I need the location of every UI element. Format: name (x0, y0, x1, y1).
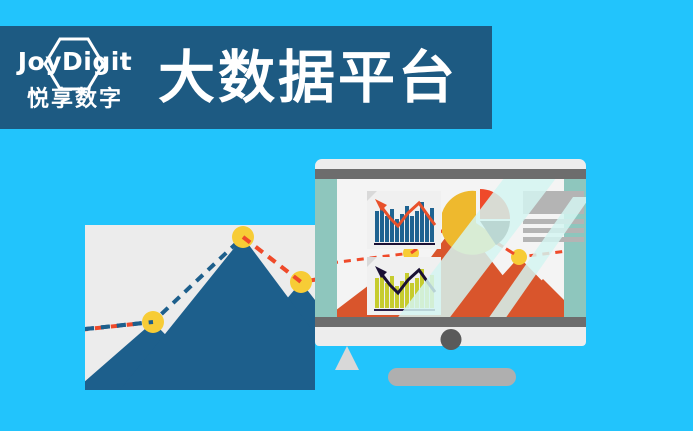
pie-chart (442, 187, 514, 259)
bar-chart-card-blue[interactable] (367, 191, 441, 249)
axis-line (374, 243, 435, 245)
poster-canvas: JoyDigit 悦享数字 大数据平台 (0, 0, 693, 431)
monitor-stand-neck (335, 346, 359, 370)
monitor-bezel-bottom (315, 317, 586, 327)
logo: JoyDigit 悦享数字 (14, 30, 136, 125)
monitor-bezel-top (315, 169, 586, 179)
power-button[interactable] (440, 329, 461, 350)
monitor (315, 159, 586, 346)
doc-line (523, 219, 584, 224)
doc-header-block (523, 191, 584, 214)
bar-chart-olive (367, 257, 441, 315)
doc-line (523, 228, 584, 233)
bar-chart-blue (367, 191, 441, 249)
document-placeholder (523, 191, 584, 239)
dashboard (337, 179, 564, 317)
data-marker (290, 271, 312, 293)
page-title: 大数据平台 (158, 50, 458, 107)
logo-subtitle: 悦享数字 (27, 88, 123, 110)
page-fold-corner (367, 257, 377, 267)
header-banner: JoyDigit 悦享数字 大数据平台 (0, 26, 492, 129)
logo-wordmark: JoyDigit (18, 49, 133, 74)
screen-side-band-left (315, 179, 337, 317)
mountain-chart-svg (85, 225, 315, 390)
axis-line (374, 309, 435, 311)
pie-slice-red (480, 189, 510, 219)
monitor-base (388, 368, 516, 386)
bar-chart-card-olive[interactable] (367, 257, 441, 315)
monitor-screen (315, 179, 586, 317)
doc-line (523, 237, 584, 242)
arrow-head (375, 266, 387, 278)
page-fold-corner (367, 191, 377, 201)
mountain-chart-panel (85, 225, 315, 390)
